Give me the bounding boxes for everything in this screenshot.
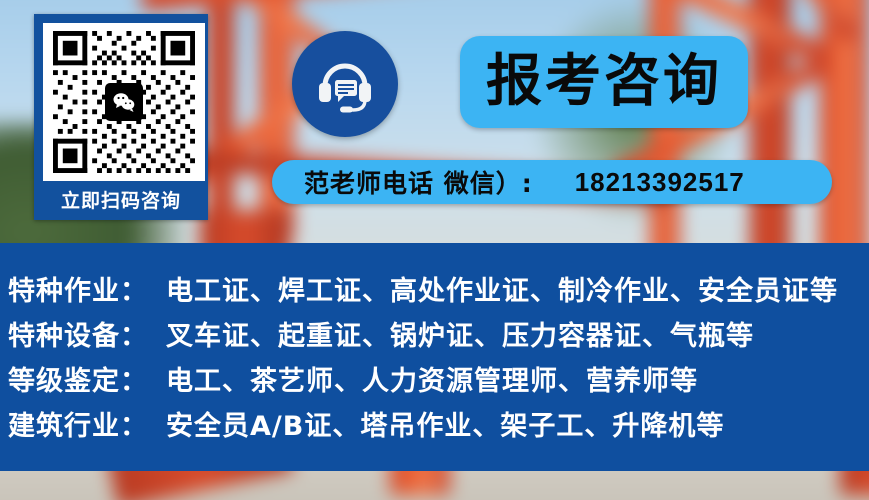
contact-phone-number[interactable]: 18213392517: [575, 167, 745, 198]
category-name: 特种设备：: [8, 314, 148, 353]
qr-code-frame: [43, 23, 205, 181]
category-name: 等级鉴定：: [8, 359, 148, 398]
qr-caption: 立即扫码咨询: [37, 186, 205, 213]
consult-cta-button[interactable]: 报考咨询: [460, 36, 748, 128]
category-items: 电工、茶艺师、人力资源管理师、营养师等: [166, 359, 698, 398]
qr-code-card[interactable]: 立即扫码咨询: [34, 14, 208, 220]
category-name: 特种作业：: [8, 269, 148, 308]
promo-poster: 立即扫码咨询 报考咨询 范老师电话 微信）: 18213392517: [0, 0, 869, 500]
consult-cta-label: 报考咨询: [486, 54, 722, 110]
category-items: 叉车证、起重证、锅炉证、压力容器证、气瓶等: [166, 314, 754, 353]
headset-support-icon: [313, 52, 377, 116]
category-row: 等级鉴定： 电工、茶艺师、人力资源管理师、营养师等: [8, 359, 698, 398]
wechat-icon: [105, 83, 143, 121]
category-items: 安全员A/B证、塔吊作业、架子工、升降机等: [166, 404, 724, 443]
contact-label: 范老师电话 微信）:: [304, 164, 533, 200]
contact-phone-bar[interactable]: 范老师电话 微信）: 18213392517: [272, 160, 832, 204]
category-items: 电工证、焊工证、高处作业证、制冷作业、安全员证等: [166, 269, 838, 308]
category-row: 特种作业： 电工证、焊工证、高处作业证、制冷作业、安全员证等: [8, 269, 838, 308]
category-name: 建筑行业：: [8, 404, 148, 443]
category-row: 建筑行业： 安全员A/B证、塔吊作业、架子工、升降机等: [8, 404, 724, 443]
category-row: 特种设备： 叉车证、起重证、锅炉证、压力容器证、气瓶等: [8, 314, 754, 353]
headset-support-badge[interactable]: [292, 31, 398, 137]
category-list-panel: 特种作业： 电工证、焊工证、高处作业证、制冷作业、安全员证等 特种设备： 叉车证…: [0, 243, 869, 471]
